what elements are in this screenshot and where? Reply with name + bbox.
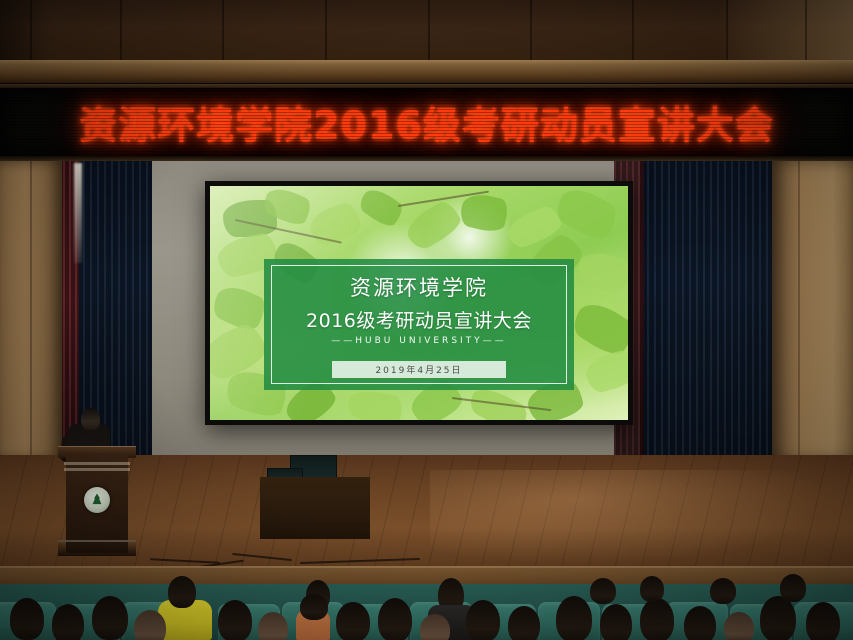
audience-head (508, 606, 540, 640)
audience-head (300, 594, 328, 620)
wall-panel-right (772, 161, 853, 461)
audience-head (684, 606, 716, 640)
wall-light-strip (74, 163, 82, 263)
presenter-head (81, 408, 100, 430)
audience-head (378, 598, 412, 640)
audience-head (556, 596, 592, 640)
audience-head (640, 598, 674, 640)
audience-head (92, 596, 128, 640)
audience-head (590, 578, 616, 604)
audience-head (600, 604, 632, 640)
audience-head (168, 576, 196, 608)
podium-base (58, 540, 136, 556)
audience-head (134, 610, 166, 640)
audience-head (640, 576, 664, 602)
projection-screen: 资源环境学院 2016级考研动员宣讲大会 ——HUBU UNIVERSITY——… (210, 186, 628, 420)
audience-head (10, 598, 44, 640)
projection-screen-frame: 资源环境学院 2016级考研动员宣讲大会 ——HUBU UNIVERSITY——… (205, 181, 633, 425)
stage-curtain-right (640, 161, 772, 461)
slide-green-panel: 资源环境学院 2016级考研动员宣讲大会 ——HUBU UNIVERSITY——… (264, 259, 573, 390)
slide-date-box: 2019年4月25日 (332, 361, 505, 378)
wall-ledge (0, 60, 853, 84)
audience-head (52, 604, 84, 640)
led-banner-text: 资源环境学院2016级考研动员宣讲大会 (0, 95, 853, 150)
university-emblem-icon (84, 487, 110, 513)
audience-head (780, 574, 806, 602)
slide-title: 资源环境学院 (264, 272, 573, 302)
audience-head (258, 612, 288, 640)
audience-head (806, 602, 840, 640)
floor-reflection (430, 470, 850, 570)
audience-head (420, 614, 450, 640)
audience-head (724, 612, 754, 640)
audience-head (710, 578, 736, 604)
audience-head (336, 602, 370, 640)
presentation-table (260, 477, 370, 539)
auditorium-scene: 资源环境学院2016级考研动员宣讲大会 (0, 0, 853, 640)
slide-english-line: ——HUBU UNIVERSITY—— (264, 336, 573, 346)
audience-head (218, 600, 252, 640)
upper-wood-wall (0, 0, 853, 62)
wall-panel-left (0, 161, 62, 461)
audience-head (466, 600, 500, 640)
led-banner: 资源环境学院2016级考研动员宣讲大会 (0, 88, 853, 156)
audience-head (760, 596, 796, 640)
slide-subtitle: 2016级考研动员宣讲大会 (264, 306, 573, 333)
slide-date: 2019年4月25日 (375, 363, 462, 376)
